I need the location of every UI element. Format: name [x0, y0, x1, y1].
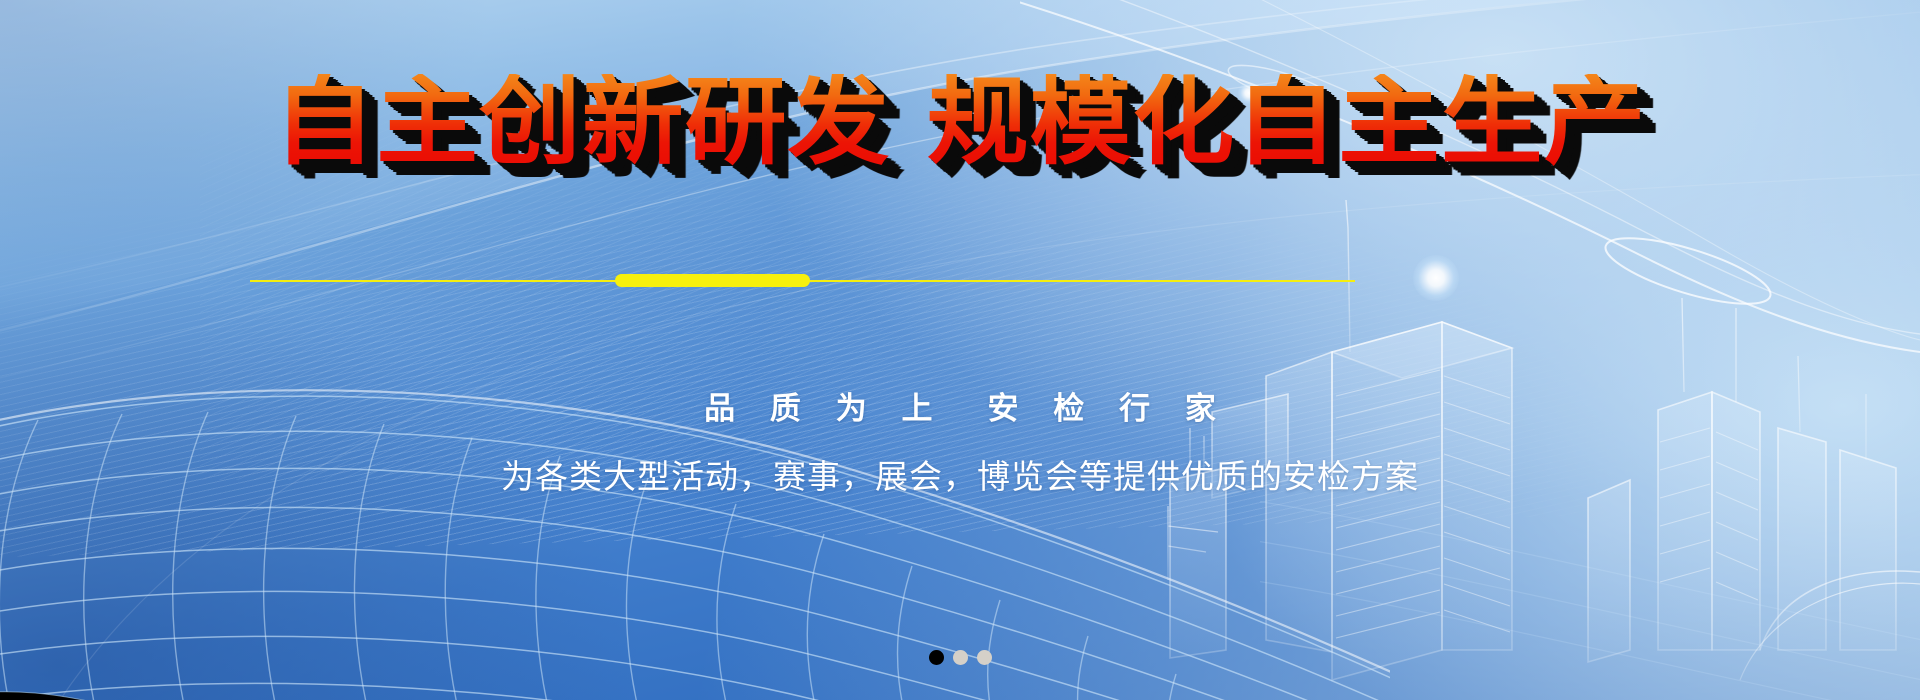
- banner-divider: [250, 274, 1355, 288]
- carousel-indicators[interactable]: [0, 650, 1920, 665]
- hero-banner: 自主创新研发 规模化自主生产 品 质 为 上 安 检 行 家 为各类大型活动，赛…: [0, 0, 1920, 700]
- banner-description: 为各类大型活动，赛事，展会，博览会等提供优质的安检方案: [0, 450, 1920, 498]
- banner-headline: 自主创新研发 规模化自主生产: [0, 74, 1920, 170]
- divider-thick-segment: [615, 274, 810, 287]
- carousel-dot-1[interactable]: [929, 650, 944, 665]
- carousel-dot-2[interactable]: [953, 650, 968, 665]
- banner-subtitle: 品 质 为 上 安 检 行 家: [0, 383, 1920, 428]
- carousel-dot-3[interactable]: [977, 650, 992, 665]
- banner-content: 自主创新研发 规模化自主生产 品 质 为 上 安 检 行 家 为各类大型活动，赛…: [0, 0, 1920, 700]
